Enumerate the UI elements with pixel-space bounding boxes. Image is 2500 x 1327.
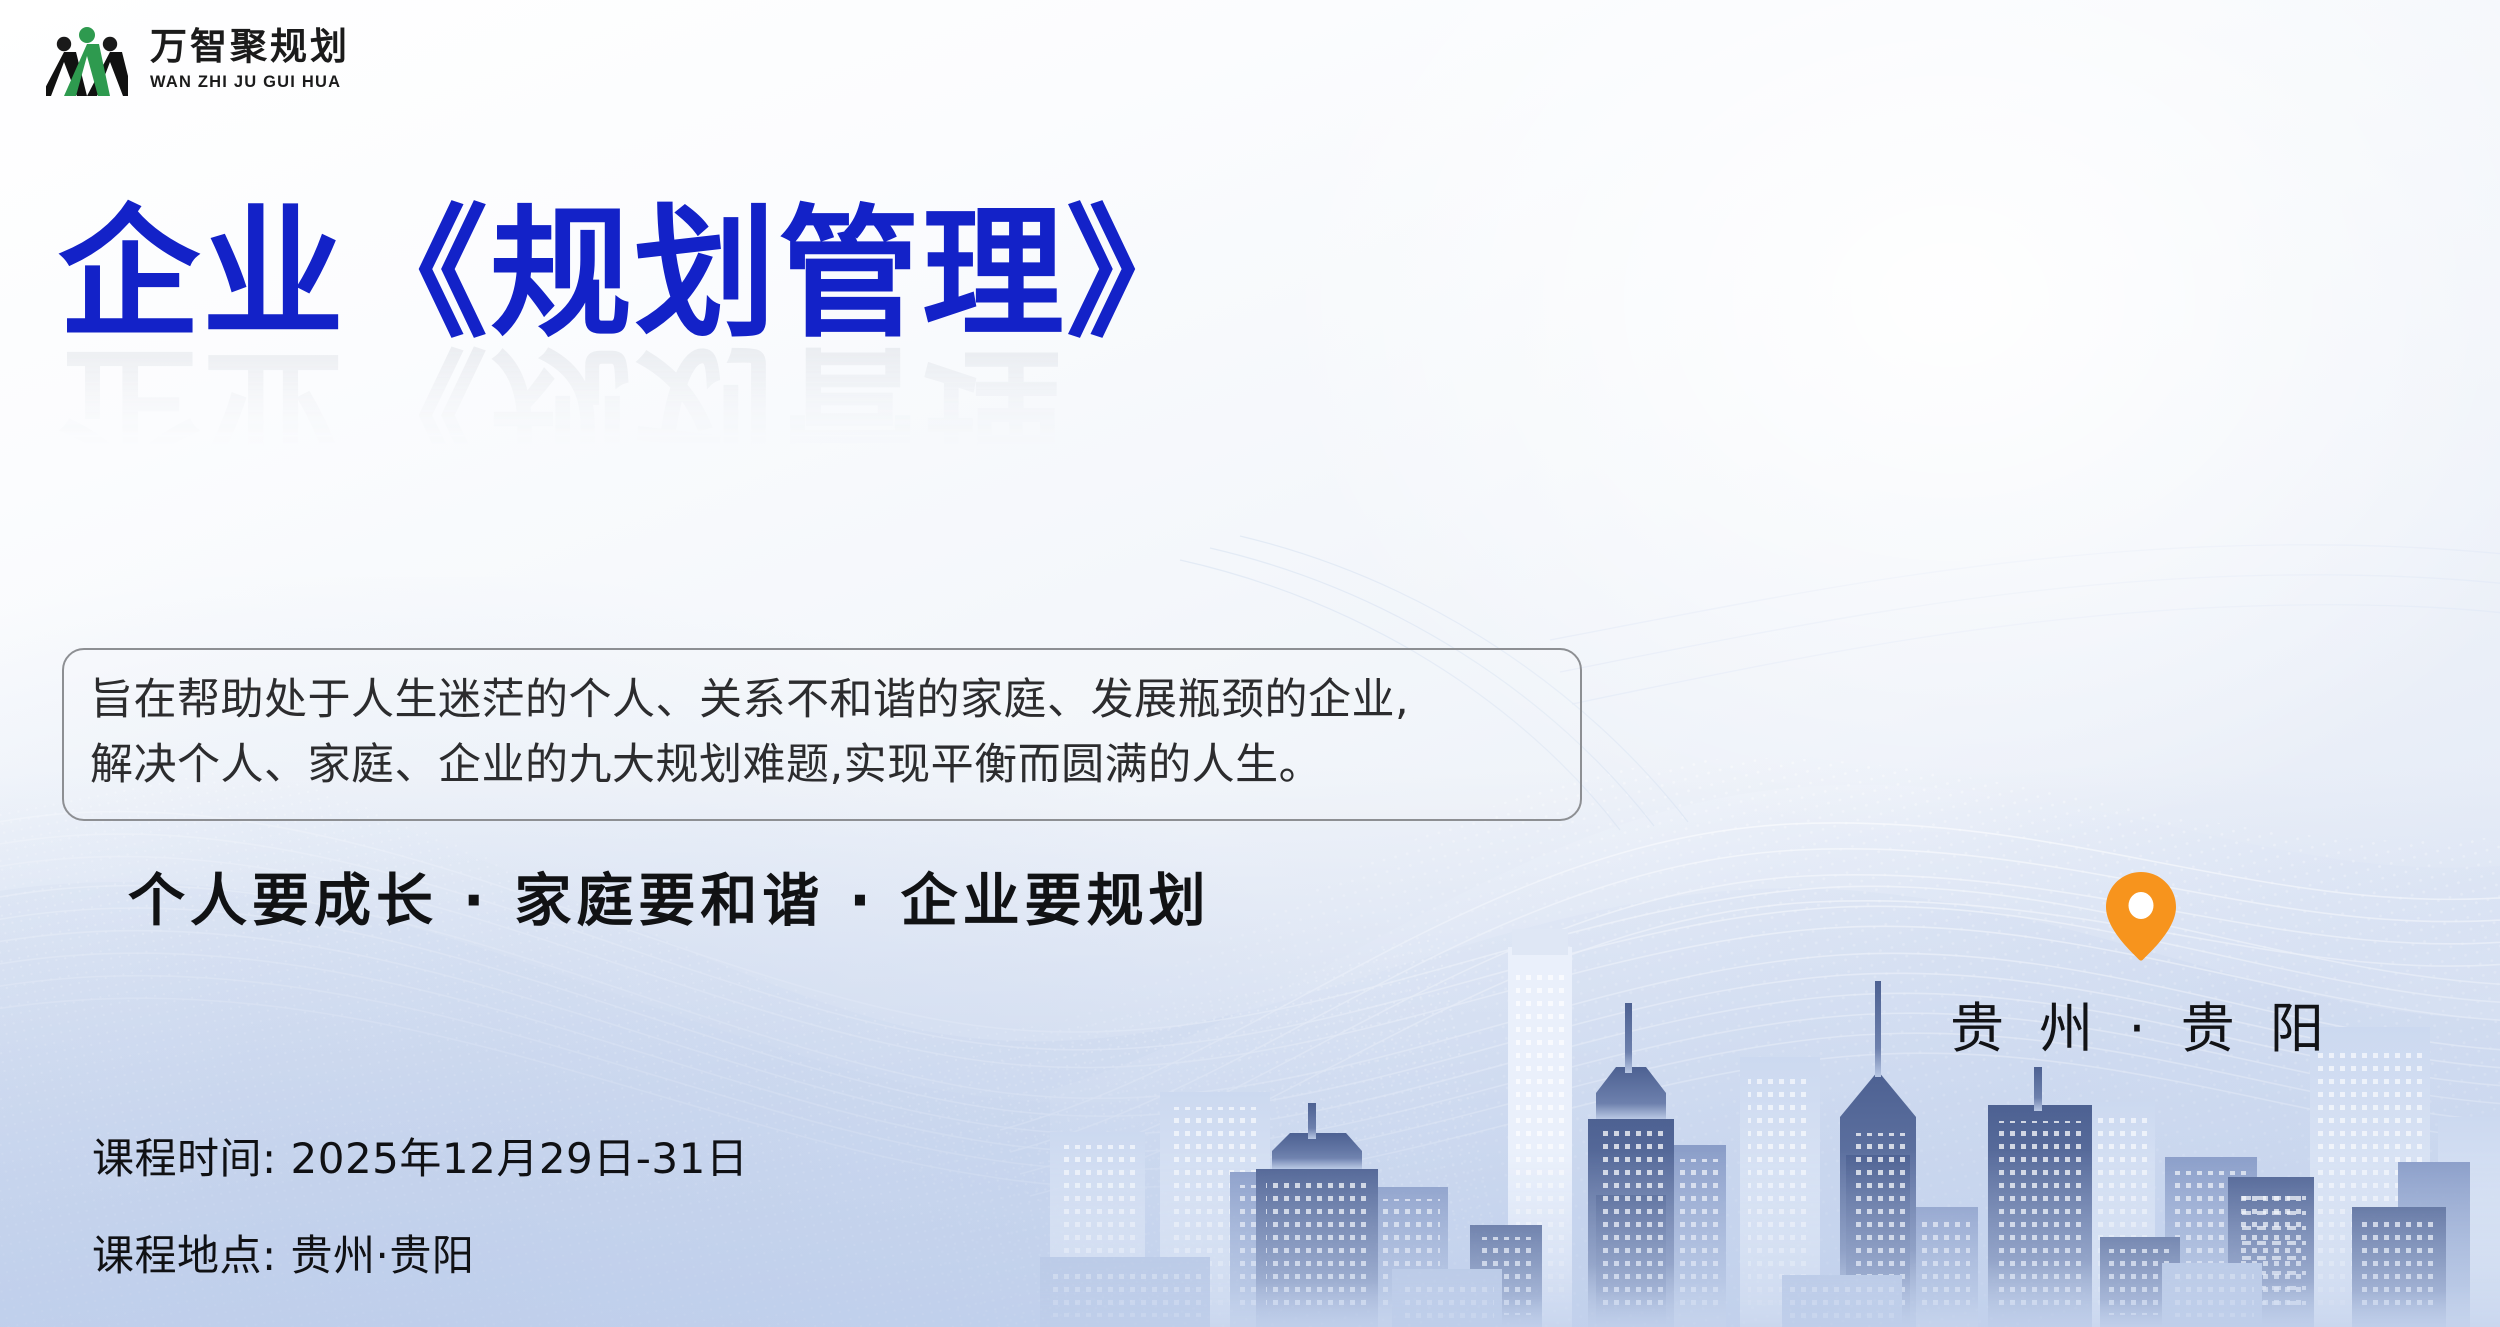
course-info: 课程时间: 2025年12月29日-31日 课程地点: 贵州·贵阳	[92, 1125, 748, 1283]
course-time-row: 课程时间: 2025年12月29日-31日	[92, 1125, 748, 1186]
brand-logo[interactable]: 万智聚规划 WAN ZHI JU GUI HUA	[46, 24, 350, 96]
three-people-logo-icon	[46, 24, 128, 96]
description-box: 旨在帮助处于人生迷茫的个人、关系不和谐的家庭、发展瓶颈的企业, 解决个人、家庭、…	[62, 648, 1582, 821]
brand-name-en: WAN ZHI JU GUI HUA	[150, 74, 350, 91]
brand-name-cn: 万智聚规划	[150, 29, 350, 66]
page-title-reflection: 企业《规划管理》	[58, 333, 1058, 486]
map-pin-icon	[2104, 870, 2178, 962]
description-line-1: 旨在帮助处于人生迷茫的个人、关系不和谐的家庭、发展瓶颈的企业,	[90, 668, 1554, 733]
location-group: 贵 州 · 贵 阳	[1950, 870, 2333, 1063]
slogan-text: 个人要成长 · 家庭要和谐 · 企业要规划	[128, 855, 1211, 937]
title-block: 企业《规划管理》 企业《规划管理》	[58, 198, 1058, 487]
poster-canvas: 万智聚规划 WAN ZHI JU GUI HUA 企业《规划管理》 企业《规划管…	[0, 0, 2500, 1327]
description-line-2: 解决个人、家庭、企业的九大规划难题,实现平衡而圆满的人生。	[90, 733, 1554, 798]
location-label: 贵 州 · 贵 阳	[1950, 984, 2333, 1063]
page-title: 企业《规划管理》	[58, 198, 1058, 351]
course-place-row: 课程地点: 贵州·贵阳	[92, 1222, 748, 1283]
